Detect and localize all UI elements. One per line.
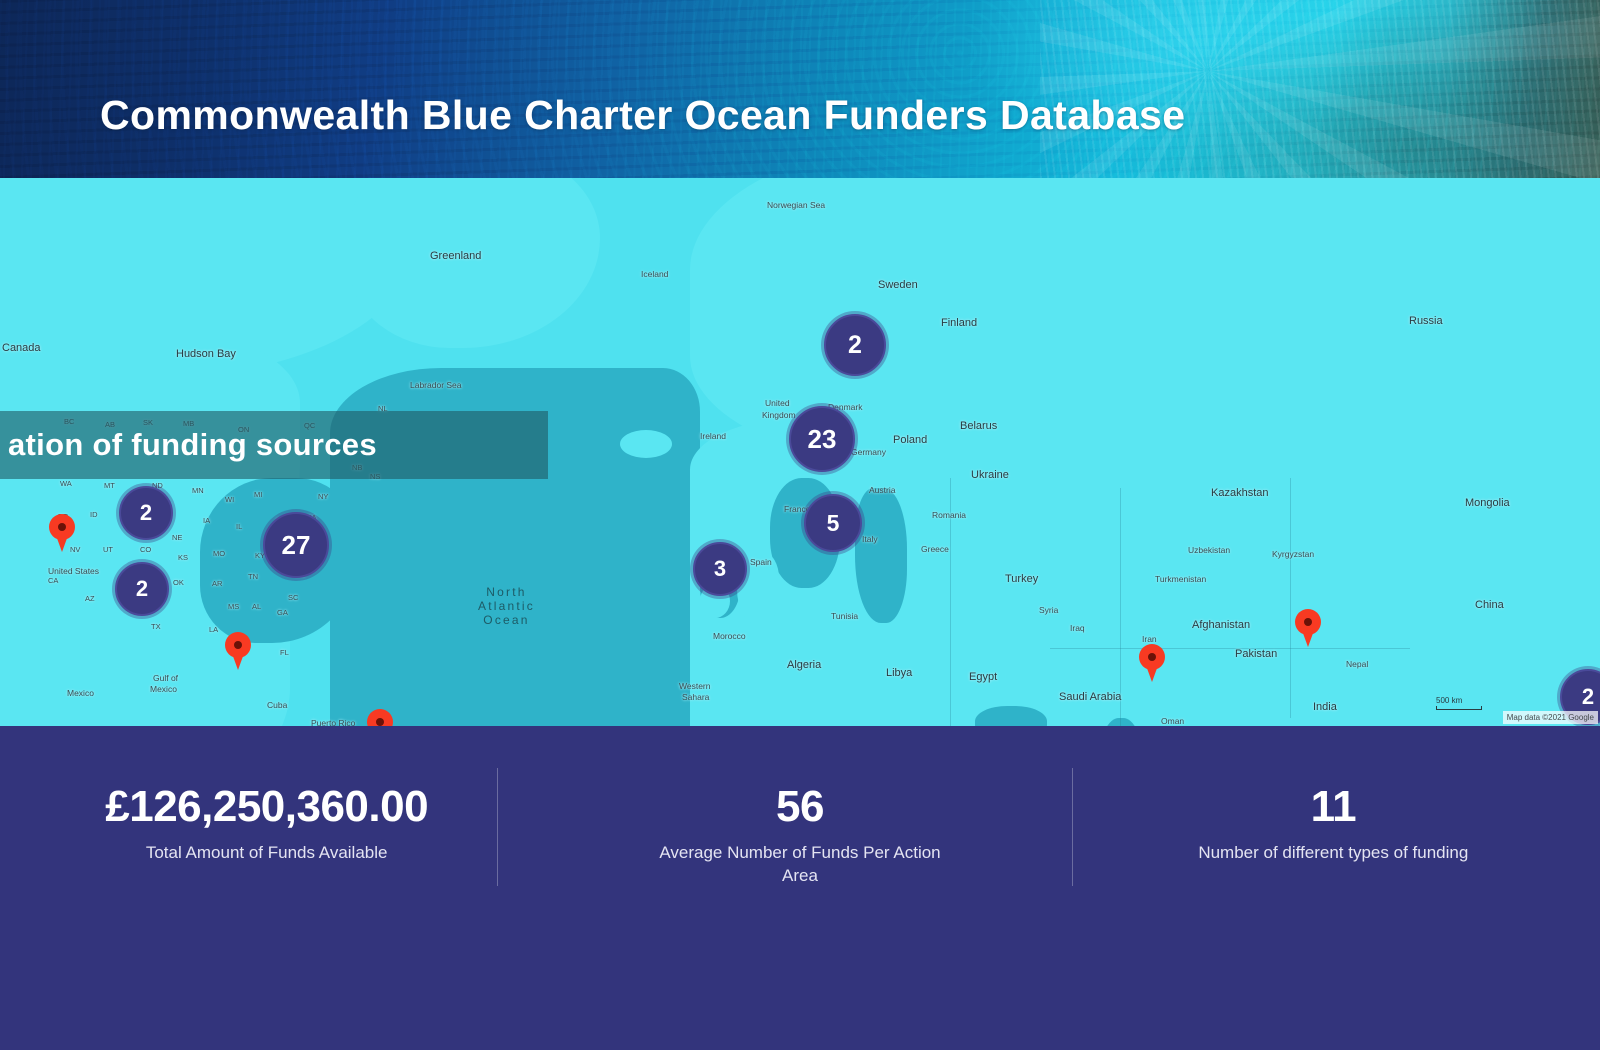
map-region-code: NY: [318, 492, 328, 501]
map-label: Kyrgyzstan: [1272, 549, 1314, 559]
map-label: Pakistan: [1235, 648, 1277, 660]
cluster-us-northwest[interactable]: 2: [119, 486, 173, 540]
map-label: Austria: [869, 485, 895, 495]
map-label: Afghanistan: [1192, 619, 1250, 631]
stat-label: Number of different types of funding: [1198, 842, 1468, 865]
map-label: Belarus: [960, 420, 997, 432]
stat-average-funds: 56Average Number of Funds Per Action Are…: [533, 726, 1066, 926]
cluster-count: 3: [714, 556, 726, 582]
map-region-code: KS: [178, 553, 188, 562]
map-region-code: OK: [173, 578, 184, 587]
map-region-code: UT: [103, 545, 113, 554]
map-ocean-label: NorthAtlanticOcean: [478, 585, 535, 627]
stats-divider-2: [1072, 768, 1073, 886]
map-region-code: SC: [288, 593, 298, 602]
cluster-count: 2: [136, 576, 148, 602]
cluster-us-northeast[interactable]: 27: [263, 512, 329, 578]
stat-value: £126,250,360.00: [105, 784, 428, 830]
stat-total-funds: £126,250,360.00Total Amount of Funds Ava…: [0, 726, 533, 926]
map-label: United States: [48, 566, 99, 576]
map-label: Egypt: [969, 671, 997, 683]
pin-center-dot: [234, 641, 242, 649]
map-label: Turkey: [1005, 573, 1038, 585]
map-region-code: WI: [225, 495, 234, 504]
map-label: Ukraine: [971, 469, 1009, 481]
map-region-code: TN: [248, 572, 258, 581]
map-region-code: AZ: [85, 594, 95, 603]
map-label: Iran: [1142, 634, 1157, 644]
pin-center-dot: [1304, 618, 1312, 626]
pin-gulf-iran[interactable]: [1139, 644, 1165, 682]
funding-map[interactable]: Norwegian SeaIcelandSwedenFinlandRussiaD…: [0, 178, 1600, 726]
map-caption-text: ation of funding sources: [8, 427, 377, 463]
map-label: Tunisia: [831, 611, 858, 621]
stat-label: Total Amount of Funds Available: [146, 842, 388, 865]
map-label: Italy: [862, 534, 878, 544]
map-label: China: [1475, 599, 1504, 611]
pin-center-dot: [376, 718, 384, 726]
pin-center-dot: [58, 523, 66, 531]
header-foam-texture: [1040, 0, 1600, 178]
cluster-uk-germany[interactable]: 23: [789, 406, 855, 472]
map-label: Sweden: [878, 279, 918, 291]
map-label: Poland: [893, 434, 927, 446]
cluster-count: 23: [808, 424, 837, 455]
map-region-code: NE: [172, 533, 182, 542]
map-label: Nepal: [1346, 659, 1368, 669]
pin-united-states[interactable]: [49, 514, 75, 552]
map-scale-bar: 500 km: [1436, 696, 1482, 710]
cluster-count: 2: [140, 500, 152, 526]
map-region-code: MN: [192, 486, 204, 495]
map-label: Labrador Sea: [410, 380, 462, 390]
map-label: Sahara: [682, 692, 709, 702]
page-header: Commonwealth Blue Charter Ocean Funders …: [0, 0, 1600, 178]
map-label: Mexico: [67, 688, 94, 698]
map-label: Saudi Arabia: [1059, 691, 1121, 703]
map-label: Turkmenistan: [1155, 574, 1206, 584]
map-region-code: WA: [60, 479, 72, 488]
water-black-sea: [975, 706, 1047, 726]
map-region-code: CO: [140, 545, 151, 554]
map-label: Spain: [750, 557, 772, 567]
page-title: Commonwealth Blue Charter Ocean Funders …: [100, 92, 1185, 139]
map-label: Cuba: [267, 700, 287, 710]
map-label: Norwegian Sea: [767, 200, 825, 210]
map-label: Mexico: [150, 684, 177, 694]
map-region-code: FL: [280, 648, 289, 657]
map-label: Oman: [1161, 716, 1184, 726]
cluster-spain[interactable]: 3: [693, 542, 747, 596]
map-region-code: LA: [209, 625, 218, 634]
map-label: Puerto Rico: [311, 718, 355, 726]
map-label: Libya: [886, 667, 912, 679]
pin-caribbean[interactable]: [367, 709, 393, 726]
pin-pakistan[interactable]: [1295, 609, 1321, 647]
map-label: Uzbekistan: [1188, 545, 1230, 555]
map-region-code: TX: [151, 622, 161, 631]
map-label: Ireland: [700, 431, 726, 441]
map-label: Gulf of: [153, 673, 178, 683]
map-label: Western: [679, 681, 711, 691]
map-border-line: [1290, 478, 1291, 718]
pin-florida[interactable]: [225, 632, 251, 670]
map-scale-line: [1436, 706, 1482, 710]
map-label: Hudson Bay: [176, 348, 236, 360]
cluster-count: 2: [1582, 684, 1594, 710]
map-region-code: MO: [213, 549, 225, 558]
cluster-count: 5: [827, 510, 840, 537]
map-label: Finland: [941, 317, 977, 329]
map-region-code: MI: [254, 490, 262, 499]
page-root: Commonwealth Blue Charter Ocean Funders …: [0, 0, 1600, 1050]
map-caption-bar: ation of funding sources: [0, 411, 548, 479]
cluster-count: 2: [848, 331, 862, 360]
map-region-code: AL: [252, 602, 261, 611]
land-iceland: [620, 430, 672, 458]
map-region-code: IL: [236, 522, 242, 531]
map-label: Mongolia: [1465, 497, 1510, 509]
map-label: United: [765, 398, 790, 408]
map-label: Iraq: [1070, 623, 1085, 633]
stat-funding-types: 11Number of different types of funding: [1067, 726, 1600, 926]
map-region-code: AR: [212, 579, 222, 588]
map-label: Greece: [921, 544, 949, 554]
map-label: Algeria: [787, 659, 821, 671]
map-region-code: MT: [104, 481, 115, 490]
map-region-code: MS: [228, 602, 239, 611]
cluster-scandinavia[interactable]: 2: [824, 314, 886, 376]
map-label: Germany: [851, 447, 886, 457]
map-label: Kazakhstan: [1211, 487, 1268, 499]
map-region-code: ID: [90, 510, 98, 519]
map-region-code: CA: [48, 576, 58, 585]
stat-value: 56: [776, 784, 824, 830]
map-label: Morocco: [713, 631, 746, 641]
map-label: Greenland: [430, 250, 481, 262]
pin-center-dot: [1148, 653, 1156, 661]
cluster-france-italy[interactable]: 5: [804, 494, 862, 552]
map-label: Russia: [1409, 315, 1443, 327]
cluster-us-southwest[interactable]: 2: [115, 562, 169, 616]
water-baltic-sea: [855, 488, 907, 623]
stat-value: 11: [1311, 784, 1357, 830]
map-region-code: GA: [277, 608, 288, 617]
map-label: India: [1313, 701, 1337, 713]
map-border-line: [1050, 648, 1410, 649]
map-region-code: IA: [203, 516, 210, 525]
map-attribution: Map data ©2021 Google: [1503, 711, 1598, 724]
map-label: Iceland: [641, 269, 668, 279]
stats-panel: £126,250,360.00Total Amount of Funds Ava…: [0, 726, 1600, 1050]
cluster-count: 27: [282, 530, 311, 561]
stats-row: £126,250,360.00Total Amount of Funds Ava…: [0, 726, 1600, 926]
map-label: Romania: [932, 510, 966, 520]
map-scale-label: 500 km: [1436, 696, 1462, 705]
map-label: Kingdom: [762, 410, 796, 420]
stat-label: Average Number of Funds Per Action Area: [650, 842, 950, 888]
stats-divider-1: [497, 768, 498, 886]
map-label: Canada: [2, 342, 41, 354]
map-label: Syria: [1039, 605, 1058, 615]
